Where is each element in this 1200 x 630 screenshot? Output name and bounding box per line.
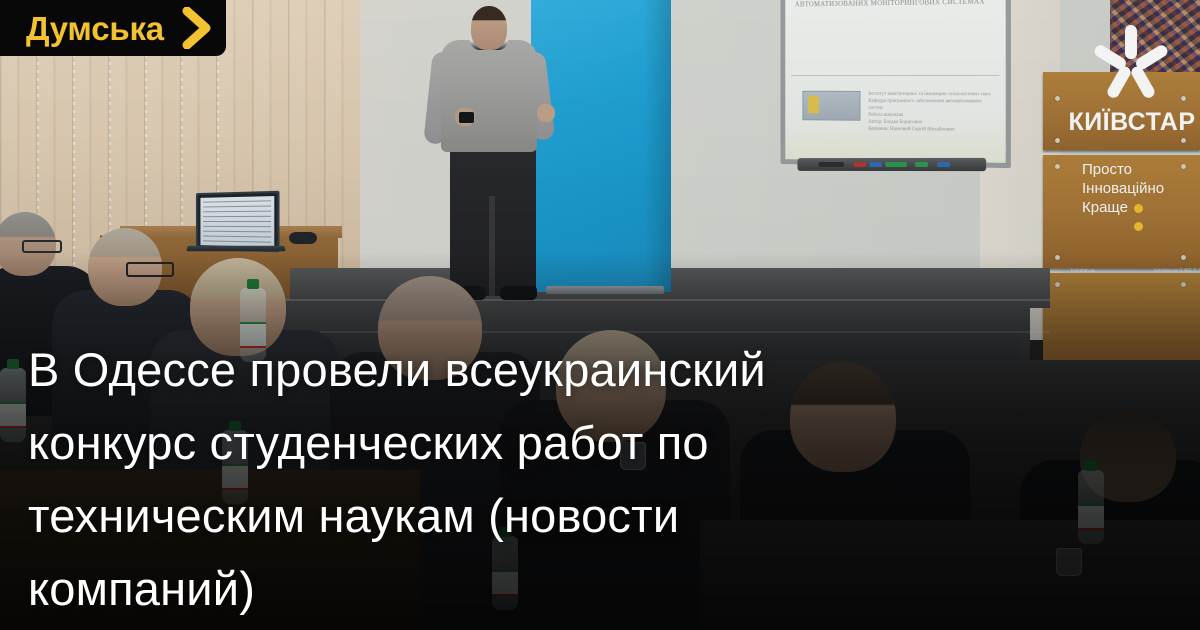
news-share-card: АВТОМАТИЗОВАНИХ МОНІТОРИНГОВИХ СИСТЕМАХ … [0,0,1200,630]
slide-line: Керівник: Науковий Сергій Михайлович [868,126,997,134]
projection-screen: АВТОМАТИЗОВАНИХ МОНІТОРИНГОВИХ СИСТЕМАХ … [785,0,1005,163]
kyivstar-banner-footer: kyivstar.ua kyivstar.ua 0 466 2 [1071,268,1196,274]
banner-shading [643,0,671,292]
whiteboard-marker-tray [797,158,986,171]
whiteboard-frame: АВТОМАТИЗОВАНИХ МОНІТОРИНГОВИХ СИСТЕМАХ … [781,0,1011,168]
headline-line: компаний) [28,552,928,625]
slide-line: Кафедра програмного забезпечення автомат… [868,98,997,113]
eyeglasses [126,262,174,277]
presentation-remote [459,112,474,123]
slide-body-text: Інститут комп'ютерних та інженерно-техно… [868,91,997,134]
chevron-right-icon [182,7,212,49]
tagline-line: Просто [1082,160,1200,179]
eyeglasses [22,240,62,253]
drinking-glass [1056,548,1082,576]
kyivstar-wordmark: КИЇВСТАР [1062,108,1200,137]
stage-edge-highlight [250,299,1050,301]
laptop-keyboard [186,246,285,252]
footer-right: kyivstar.ua 0 466 2 [1154,268,1196,274]
tagline-line: Інноваційно [1082,179,1200,198]
water-bottle [1078,470,1104,544]
laptop-screen-content [203,200,271,242]
kyivstar-star-icon [1085,18,1177,114]
headline: В Одессе провели всеукраинский конкурс с… [28,333,928,625]
site-logo-label: Думська [26,12,182,45]
slide-emblem [802,91,860,121]
kyivstar-dots [1134,200,1148,236]
slide-divider [791,75,1000,76]
water-bottle [0,368,26,442]
wireless-mouse [289,232,317,244]
footer-left: kyivstar.ua [1071,268,1095,274]
headline-line: конкурс студенческих работ по [28,406,928,479]
kyivstar-banner: КИЇВСТАР Просто Інноваційно Краще kyivst… [531,0,671,292]
slide-title: АВТОМАТИЗОВАНИХ МОНІТОРИНГОВИХ СИСТЕМАХ [795,0,1002,8]
laptop-screen [196,191,280,253]
banner-stand-base [546,286,664,294]
headline-line: В Одессе провели всеукраинский [28,333,928,406]
site-logo[interactable]: Думська [0,0,226,56]
headline-line: техническим наукам (новости [28,479,928,552]
